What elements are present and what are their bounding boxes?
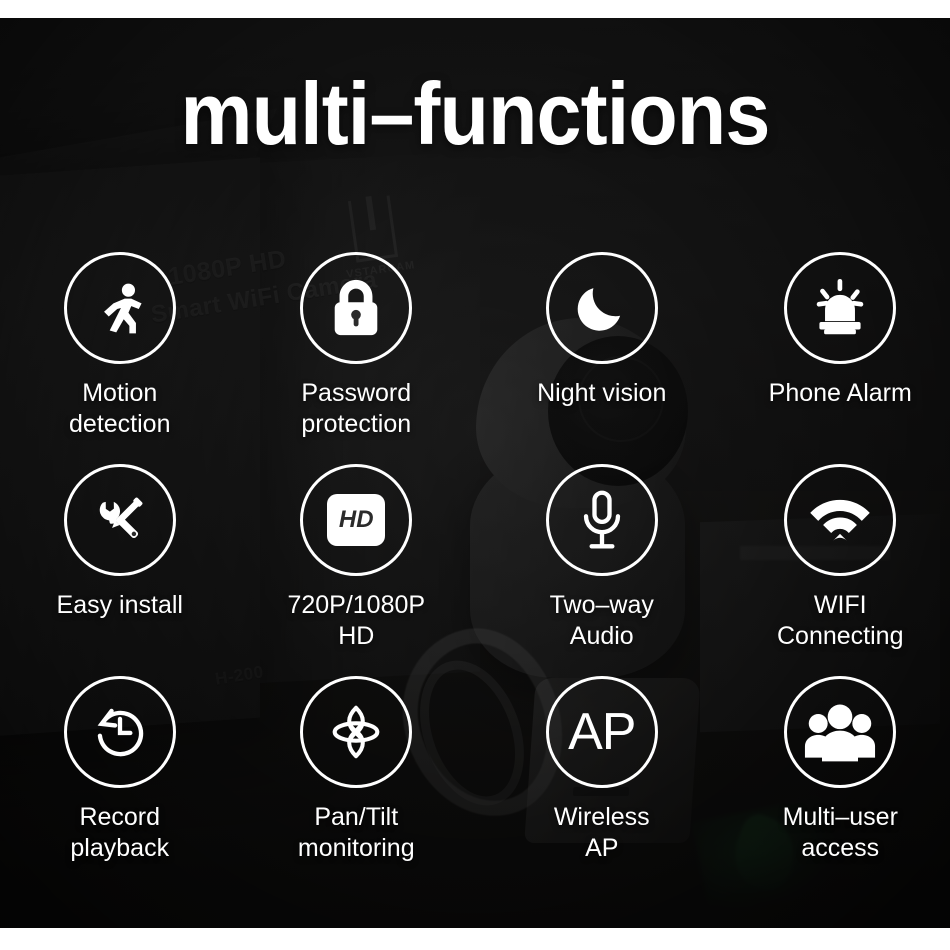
crescent-moon-icon — [573, 279, 631, 337]
product-feature-poster: VSTARCAM 1080P HD Smart WiFi Camera H-20… — [0, 0, 950, 950]
feature-item-wireless-ap[interactable]: AP Wireless AP — [483, 676, 721, 888]
feature-label: Wireless AP — [554, 802, 650, 863]
feature-label: Password protection — [301, 378, 411, 439]
feature-icon-circle — [64, 252, 176, 364]
page-title: multi–functions — [38, 70, 912, 158]
feature-label: 720P/1080P HD — [287, 590, 425, 651]
clock-rewind-icon — [90, 702, 150, 762]
feature-icon-circle: HD — [300, 464, 412, 576]
feature-item-phone-alarm[interactable]: Phone Alarm — [722, 252, 950, 464]
feature-icon-circle — [784, 676, 896, 788]
hd-chip-text: HD — [339, 506, 374, 534]
feature-label: Night vision — [537, 378, 666, 409]
feature-icon-circle — [300, 676, 412, 788]
pan-tilt-rotate-icon — [325, 701, 387, 763]
people-group-icon — [804, 702, 876, 762]
feature-label: Two–way Audio — [550, 590, 654, 651]
hd-badge-icon: HD — [327, 494, 385, 546]
feature-label: Multi–user access — [783, 802, 898, 863]
feature-item-motion-detection[interactable]: Motion detection — [1, 252, 239, 464]
feature-icon-circle: AP — [546, 676, 658, 788]
feature-item-hd-resolution[interactable]: HD 720P/1080P HD — [238, 464, 476, 676]
siren-alarm-icon — [809, 279, 871, 337]
tools-wrench-screwdriver-icon — [90, 490, 150, 550]
feature-icon-circle — [546, 464, 658, 576]
feature-item-pan-tilt-monitoring[interactable]: Pan/Tilt monitoring — [238, 676, 476, 888]
feature-item-password-protection[interactable]: Password protection — [238, 252, 476, 464]
feature-icon-circle — [784, 464, 896, 576]
wifi-signal-icon — [808, 496, 872, 544]
feature-item-record-playback[interactable]: Record playback — [1, 676, 239, 888]
feature-icon-circle — [300, 252, 412, 364]
feature-icon-circle — [64, 676, 176, 788]
running-person-icon — [90, 278, 150, 338]
feature-label: Phone Alarm — [769, 378, 912, 409]
feature-item-night-vision[interactable]: Night vision — [483, 252, 721, 464]
feature-label: WIFI Connecting — [777, 590, 903, 651]
microphone-icon — [576, 489, 628, 551]
feature-grid: Motion detection Password protection — [0, 252, 950, 888]
feature-icon-circle — [64, 464, 176, 576]
feature-label: Easy install — [57, 590, 183, 621]
padlock-icon — [329, 278, 383, 338]
poster-content: multi–functions Motion detection — [0, 0, 950, 950]
feature-icon-circle — [784, 252, 896, 364]
feature-label: Motion detection — [69, 378, 170, 439]
feature-icon-circle — [546, 252, 658, 364]
feature-label: Record playback — [70, 802, 169, 863]
ap-text-icon: AP — [568, 706, 635, 758]
feature-item-easy-install[interactable]: Easy install — [1, 464, 239, 676]
feature-item-two-way-audio[interactable]: Two–way Audio — [483, 464, 721, 676]
feature-item-wifi-connecting[interactable]: WIFI Connecting — [722, 464, 950, 676]
feature-item-multi-user-access[interactable]: Multi–user access — [722, 676, 950, 888]
feature-label: Pan/Tilt monitoring — [298, 802, 415, 863]
